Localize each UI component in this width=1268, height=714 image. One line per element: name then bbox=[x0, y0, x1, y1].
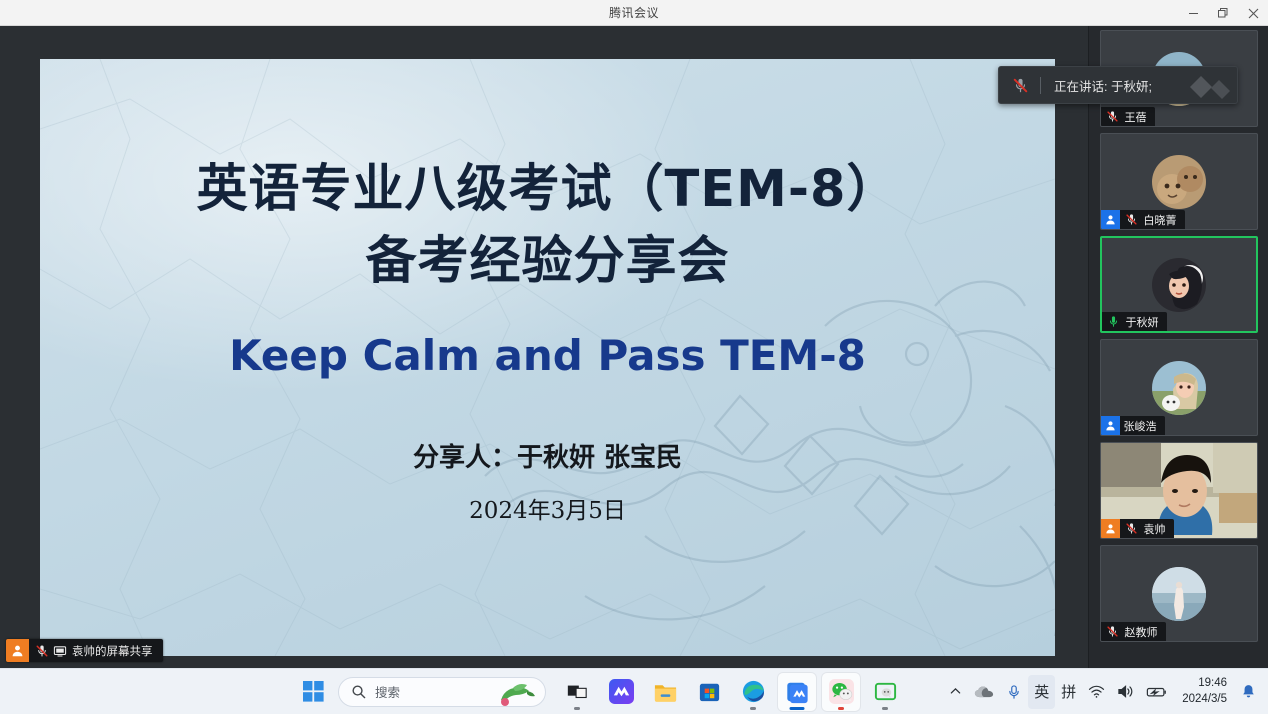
mic-muted-icon bbox=[1120, 210, 1140, 229]
slide-title-line1: 英语专业八级考试（TEM-8） bbox=[40, 154, 1055, 226]
avatar bbox=[1152, 258, 1206, 312]
participant-label: 王蓓 bbox=[1101, 107, 1155, 126]
slide-text: 英语专业八级考试（TEM-8） 备考经验分享会 Keep Calm and Pa… bbox=[40, 59, 1055, 656]
screen-share-icon bbox=[53, 644, 67, 658]
cohost-badge-icon bbox=[1101, 416, 1120, 435]
taskbar-app-wechat-devtools[interactable] bbox=[866, 673, 904, 711]
microphone-icon[interactable] bbox=[1000, 675, 1028, 709]
window-title: 腾讯会议 bbox=[609, 4, 659, 21]
share-owner-name: 袁帅的屏幕共享 bbox=[72, 639, 163, 662]
participant-label: 张峻浩 bbox=[1101, 416, 1165, 435]
app-running-dot bbox=[750, 707, 756, 710]
participant-tile-3[interactable]: 张峻浩 bbox=[1100, 339, 1258, 436]
participant-name: 王蓓 bbox=[1121, 107, 1155, 126]
restore-button[interactable] bbox=[1208, 0, 1238, 26]
mic-muted-icon bbox=[1120, 519, 1140, 538]
participant-tile-4[interactable]: 袁帅 bbox=[1100, 442, 1258, 539]
wifi-icon[interactable] bbox=[1082, 675, 1111, 709]
participant-label: 袁帅 bbox=[1101, 519, 1174, 538]
volume-icon[interactable] bbox=[1111, 675, 1140, 709]
taskbar-app-file-explorer[interactable] bbox=[646, 673, 684, 711]
clock-time: 19:46 bbox=[1198, 676, 1227, 692]
taskbar-app-task-view[interactable] bbox=[558, 673, 596, 711]
participant-name: 袁帅 bbox=[1140, 519, 1174, 538]
start-button[interactable] bbox=[296, 675, 330, 709]
mic-muted-icon bbox=[1101, 622, 1121, 641]
app-running-dot bbox=[882, 707, 888, 710]
app-active-dot bbox=[790, 707, 805, 710]
search-icon bbox=[351, 684, 366, 699]
app-running-dot bbox=[574, 707, 580, 710]
tencent-meeting-window: 腾讯会议 bbox=[0, 0, 1268, 714]
slide-subtitle-en: Keep Calm and Pass TEM-8 bbox=[40, 331, 1055, 380]
search-doodle-icon bbox=[493, 680, 537, 711]
presentation-slide: 英语专业八级考试（TEM-8） 备考经验分享会 Keep Calm and Pa… bbox=[40, 59, 1055, 656]
participant-rail[interactable]: 王蓓 bbox=[1088, 26, 1268, 668]
participant-name: 白晓菁 bbox=[1140, 210, 1185, 229]
participant-name: 张峻浩 bbox=[1120, 416, 1165, 435]
avatar bbox=[1152, 155, 1206, 209]
participant-label: 于秋妍 bbox=[1102, 312, 1167, 331]
mic-on-icon bbox=[1102, 312, 1122, 331]
cohost-badge-icon bbox=[1101, 210, 1120, 229]
slide-date: 2024年3月5日 bbox=[40, 491, 1055, 525]
window-controls bbox=[1178, 0, 1268, 26]
participant-tile-5[interactable]: 赵教师 bbox=[1100, 545, 1258, 642]
battery-icon[interactable] bbox=[1140, 675, 1174, 709]
participant-label: 赵教师 bbox=[1101, 622, 1166, 641]
bell-icon[interactable] bbox=[1235, 675, 1262, 709]
host-badge-icon bbox=[6, 639, 29, 662]
host-badge-icon bbox=[1101, 519, 1120, 538]
clock-date: 2024/3/5 bbox=[1182, 692, 1227, 708]
app-running-dot bbox=[838, 707, 844, 710]
slide-title-line2: 备考经验分享会 bbox=[40, 226, 1055, 298]
clock[interactable]: 19:46 2024/3/5 bbox=[1174, 675, 1235, 709]
participant-label: 白晓菁 bbox=[1101, 210, 1185, 229]
taskbar-app-microsoft-edge[interactable] bbox=[734, 673, 772, 711]
slide-presenters: 分享人：于秋妍 张宝民 bbox=[40, 437, 1055, 474]
chevron-up-icon[interactable] bbox=[942, 675, 968, 709]
ime-mode-indicator[interactable]: 英 bbox=[1028, 675, 1055, 709]
title-bar: 腾讯会议 bbox=[0, 0, 1268, 26]
slide-title: 英语专业八级考试（TEM-8） 备考经验分享会 bbox=[40, 154, 1055, 299]
participant-name: 于秋妍 bbox=[1122, 312, 1167, 331]
mic-muted-icon[interactable] bbox=[999, 77, 1040, 94]
participant-tile-1[interactable]: 白晓菁 bbox=[1100, 133, 1258, 230]
shared-screen-area[interactable]: 英语专业八级考试（TEM-8） 备考经验分享会 Keep Calm and Pa… bbox=[0, 26, 1088, 668]
search-box[interactable]: 搜索 bbox=[338, 677, 546, 707]
taskbar-app-tencent-meeting[interactable] bbox=[778, 673, 816, 711]
ime-pinyin-indicator[interactable]: 拼 bbox=[1055, 675, 1082, 709]
onedrive-icon[interactable] bbox=[968, 675, 1000, 709]
taskbar-app-wechat[interactable] bbox=[822, 673, 860, 711]
close-button[interactable] bbox=[1238, 0, 1268, 26]
tencent-meeting-logo bbox=[1189, 73, 1231, 104]
mic-muted-icon bbox=[35, 644, 49, 658]
minimize-button[interactable] bbox=[1178, 0, 1208, 26]
windows-taskbar: 搜索 bbox=[0, 668, 1268, 714]
share-owner-label: 袁帅的屏幕共享 bbox=[6, 639, 163, 662]
participant-name: 赵教师 bbox=[1121, 622, 1166, 641]
taskbar-app-mastergo[interactable] bbox=[602, 673, 640, 711]
participant-tile-2[interactable]: 于秋妍 bbox=[1100, 236, 1258, 333]
speaking-text: 正在讲话: 于秋妍; bbox=[1041, 76, 1152, 95]
taskbar-app-microsoft-store[interactable] bbox=[690, 673, 728, 711]
meeting-body: 英语专业八级考试（TEM-8） 备考经验分享会 Keep Calm and Pa… bbox=[0, 26, 1268, 668]
search-placeholder: 搜索 bbox=[375, 682, 400, 701]
share-label-icons bbox=[29, 639, 72, 662]
avatar bbox=[1152, 361, 1206, 415]
taskbar-center: 搜索 bbox=[296, 673, 904, 711]
speaking-banner[interactable]: 正在讲话: 于秋妍; bbox=[998, 66, 1238, 104]
avatar bbox=[1152, 567, 1206, 621]
mic-muted-icon bbox=[1101, 107, 1121, 126]
system-tray: 英 拼 bbox=[942, 669, 1268, 714]
